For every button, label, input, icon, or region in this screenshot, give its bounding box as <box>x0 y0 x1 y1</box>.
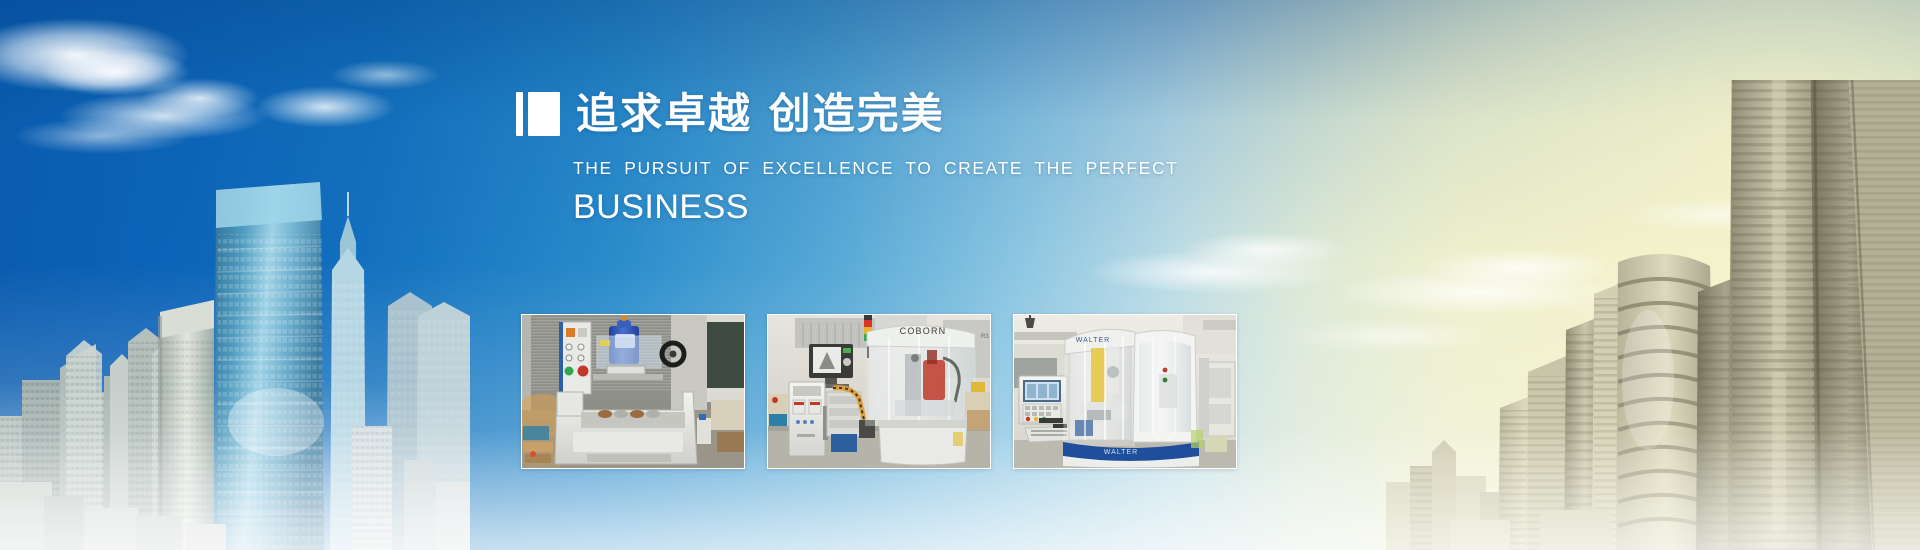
page-title: 追求卓越 创造完美 <box>576 93 945 135</box>
bar-square-logo-icon <box>516 92 560 136</box>
svg-text:WALTER: WALTER <box>1104 449 1138 456</box>
headline-row: 追求卓越 创造完美 <box>516 92 1276 136</box>
svg-text:COBORN: COBORN <box>900 326 947 336</box>
surface-grinder-illustration <box>521 314 745 469</box>
logo-square-icon <box>528 92 560 136</box>
promo-banner: 追求卓越 创造完美 THE PURSUIT OF EXCELLENCE TO C… <box>0 0 1920 550</box>
svg-text:WALTER: WALTER <box>1076 337 1110 344</box>
machine-photo-2[interactable]: COBORN R3 <box>767 314 991 469</box>
headline-block: 追求卓越 创造完美 THE PURSUIT OF EXCELLENCE TO C… <box>516 92 1276 224</box>
machine-photo-1[interactable] <box>521 314 745 469</box>
machine-photo-3[interactable]: WALTER WALTER <box>1013 314 1237 469</box>
walter-cnc-illustration: WALTER WALTER <box>1013 314 1237 469</box>
coborn-machine-illustration: COBORN R3 <box>767 314 991 469</box>
logo-bar-icon <box>516 92 523 136</box>
machine-photo-strip: COBORN R3 <box>521 314 1237 469</box>
subtitle: THE PURSUIT OF EXCELLENCE TO CREATE THE … <box>573 158 1276 179</box>
svg-text:R3: R3 <box>981 334 989 340</box>
business-word: BUSINESS <box>573 190 1276 224</box>
